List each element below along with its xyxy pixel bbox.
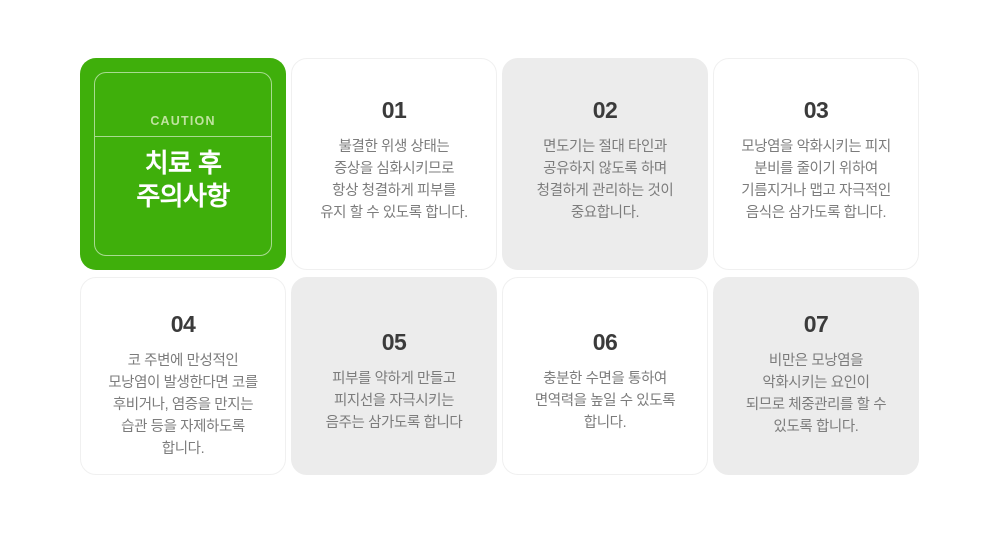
caution-card: CAUTION 치료 후 주의사항	[80, 58, 286, 270]
tip-number-01: 01	[382, 99, 407, 122]
tip-number-02: 02	[593, 99, 618, 122]
tip-text-04: 코 주변에 만성적인 모낭염이 발생한다면 코를 후비거나, 염증을 만지는 습…	[108, 350, 258, 460]
tip-card-01: 01 불결한 위생 상태는 증상을 심화시키므로 항상 청결하게 피부를 유지 …	[291, 58, 497, 270]
tip-text-01: 불결한 위생 상태는 증상을 심화시키므로 항상 청결하게 피부를 유지 할 수…	[320, 136, 468, 224]
tip-card-06: 06 충분한 수면을 통하여 면역력을 높일 수 있도록 합니다.	[502, 277, 708, 475]
tip-number-03: 03	[804, 99, 829, 122]
tip-card-05: 05 피부를 약하게 만들고 피지선을 자극시키는 음주는 삼가도록 합니다	[291, 277, 497, 475]
tip-text-03: 모낭염을 악화시키는 피지 분비를 줄이기 위하여 기름지거나 맵고 자극적인 …	[741, 136, 891, 224]
tip-number-04: 04	[171, 313, 196, 336]
tip-card-02: 02 면도기는 절대 타인과 공유하지 않도록 하며 청결하게 관리하는 것이 …	[502, 58, 708, 270]
tip-card-04: 04 코 주변에 만성적인 모낭염이 발생한다면 코를 후비거나, 염증을 만지…	[80, 277, 286, 475]
caution-inner-frame: CAUTION 치료 후 주의사항	[94, 72, 272, 256]
caution-title: 치료 후 주의사항	[136, 147, 229, 213]
tip-text-07: 비만은 모낭염을 악화시키는 요인이 되므로 체중관리를 할 수 있도록 합니다…	[746, 350, 886, 438]
tip-number-07: 07	[804, 313, 829, 336]
tip-number-05: 05	[382, 331, 407, 354]
caution-kicker-label: CAUTION	[150, 115, 215, 128]
tip-text-02: 면도기는 절대 타인과 공유하지 않도록 하며 청결하게 관리하는 것이 중요합…	[537, 136, 674, 224]
aftercare-infographic: CAUTION 치료 후 주의사항 01 불결한 위생 상태는 증상을 심화시키…	[0, 0, 1000, 540]
caution-heading-group: CAUTION 치료 후 주의사항	[95, 115, 271, 214]
tip-card-03: 03 모낭염을 악화시키는 피지 분비를 줄이기 위하여 기름지거나 맵고 자극…	[713, 58, 919, 270]
caution-divider	[95, 136, 271, 137]
tip-text-06: 충분한 수면을 통하여 면역력을 높일 수 있도록 합니다.	[535, 368, 675, 434]
cards-grid: CAUTION 치료 후 주의사항 01 불결한 위생 상태는 증상을 심화시키…	[80, 58, 920, 475]
tip-text-05: 피부를 약하게 만들고 피지선을 자극시키는 음주는 삼가도록 합니다	[326, 368, 463, 434]
tip-card-07: 07 비만은 모낭염을 악화시키는 요인이 되므로 체중관리를 할 수 있도록 …	[713, 277, 919, 475]
tip-number-06: 06	[593, 331, 618, 354]
